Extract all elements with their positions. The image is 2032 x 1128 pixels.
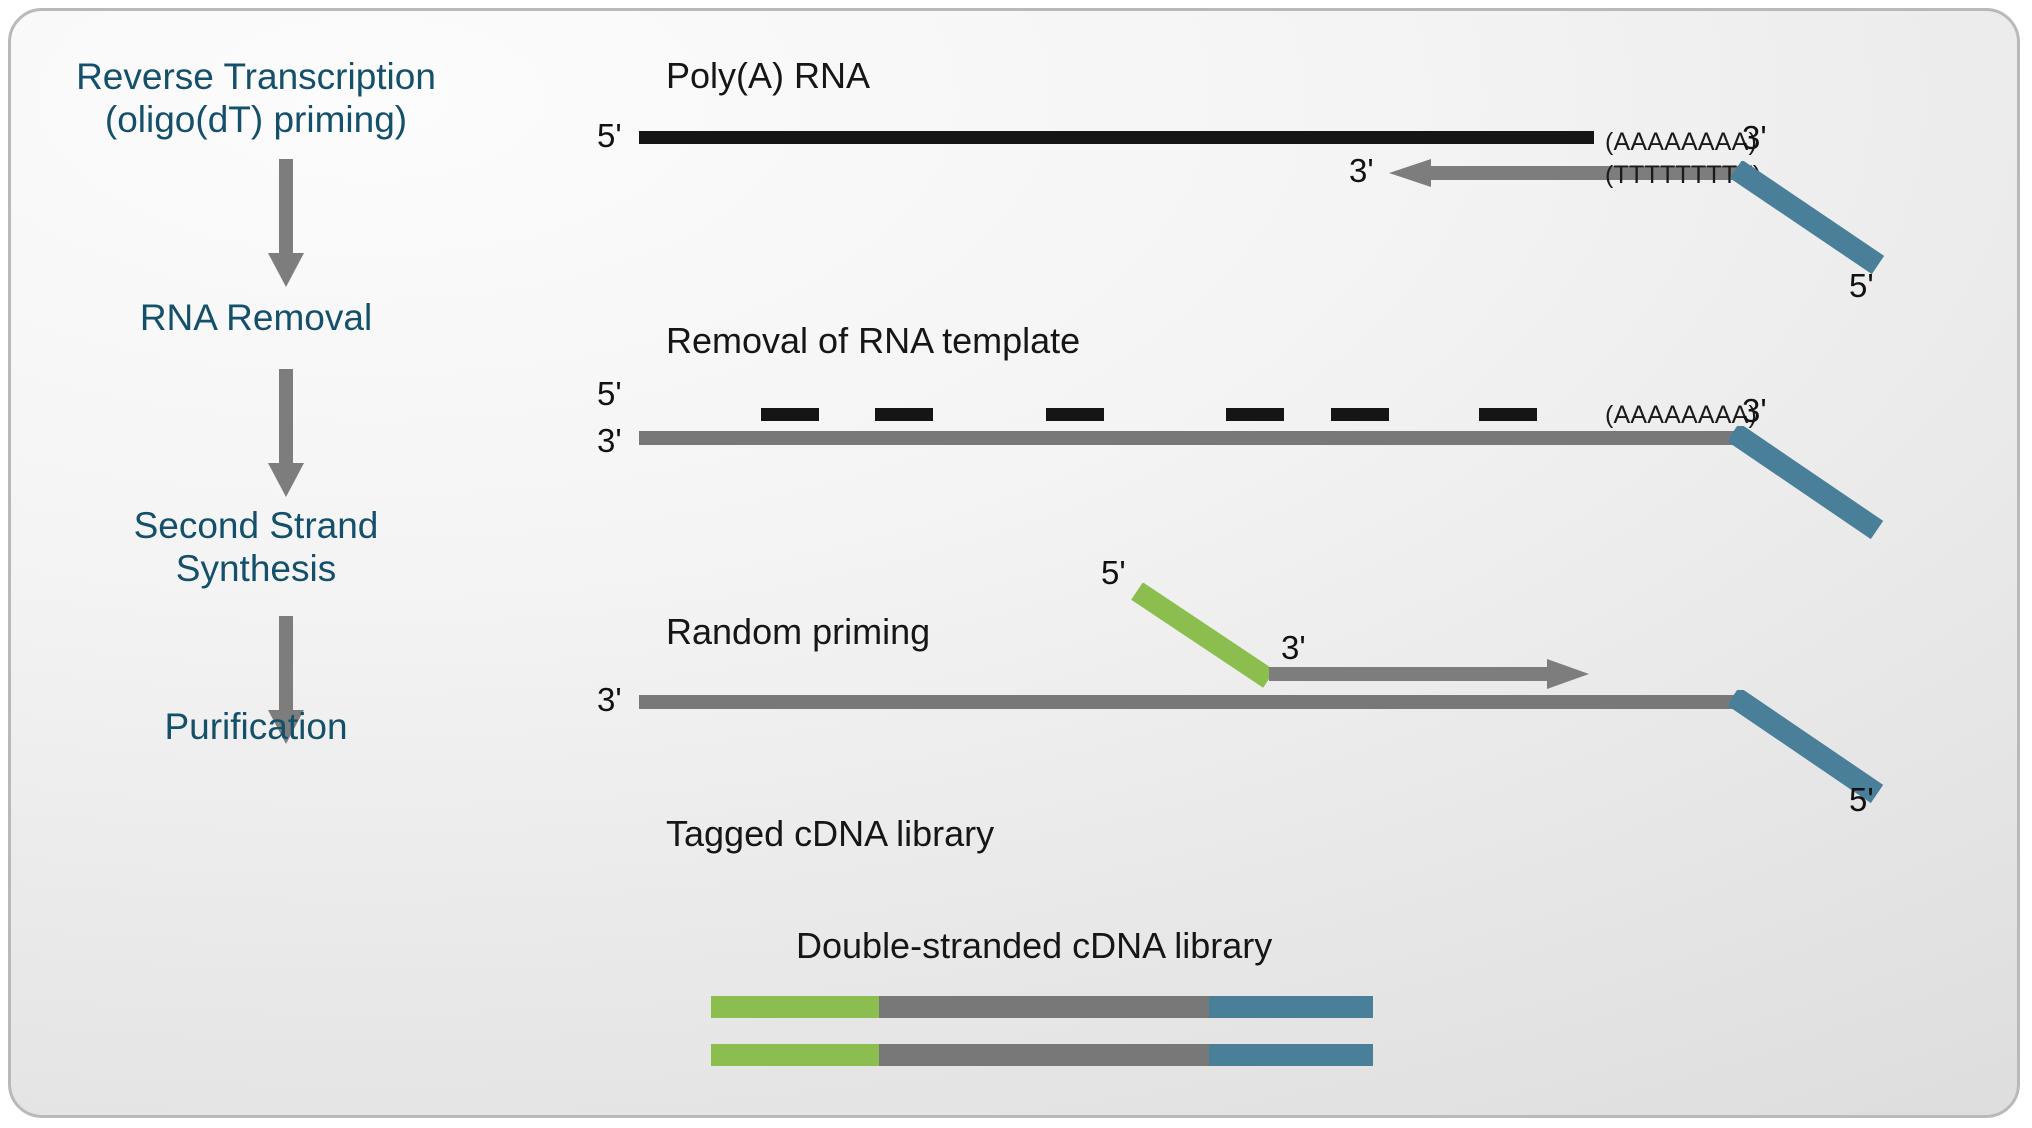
rna-fragment-dash bbox=[875, 408, 933, 421]
rna-fragment-dash bbox=[1331, 408, 1389, 421]
ds-bottom-green-segment bbox=[711, 1044, 879, 1066]
label-poly-a-tail-2: (AAAAAAAA) bbox=[1605, 403, 1757, 428]
first-strand-cdna-1 bbox=[639, 431, 1745, 445]
panel-title-random-priming: Random priming bbox=[666, 614, 930, 650]
label-rna-5prime: 5' bbox=[597, 119, 622, 152]
step-label-second-strand-synthesis: Second Strand Synthesis bbox=[21, 505, 491, 591]
diagram-canvas: Reverse Transcription (oligo(dT) priming… bbox=[0, 0, 2032, 1128]
label-rna-3prime: 3' bbox=[1742, 121, 1767, 154]
step-label-rna-removal: RNA Removal bbox=[21, 297, 491, 340]
ds-top-blue-segment bbox=[1209, 996, 1373, 1018]
panel-title-tagged-cdna-library: Tagged cDNA library bbox=[666, 816, 994, 852]
first-strand-cdna-2 bbox=[639, 695, 1745, 709]
flow-arrow-2 bbox=[266, 369, 306, 499]
panel-title-double-stranded-cdna-library: Double-stranded cDNA library bbox=[796, 928, 1272, 964]
rna-template-strand bbox=[639, 131, 1594, 144]
label-removal-3prime: 3' bbox=[597, 424, 622, 457]
ds-bottom-gray-segment bbox=[879, 1044, 1209, 1066]
label-random-primer-5prime: 5' bbox=[1101, 556, 1126, 589]
step-label-purification: Purification bbox=[21, 706, 491, 749]
ds-bottom-blue-segment bbox=[1209, 1044, 1373, 1066]
label-adapter-5prime-1: 5' bbox=[1849, 269, 1874, 302]
label-poly-a-tail: (AAAAAAAA) bbox=[1605, 130, 1757, 155]
rna-fragment-dash bbox=[1479, 408, 1537, 421]
ds-top-green-segment bbox=[711, 996, 879, 1018]
rna-fragment-dash bbox=[761, 408, 819, 421]
second-strand-arrow bbox=[1269, 659, 1589, 689]
rna-fragment-dash bbox=[1046, 408, 1104, 421]
label-primer-3prime: 3' bbox=[1349, 154, 1374, 187]
label-adapter-5prime-3: 5' bbox=[1849, 783, 1874, 816]
panel-title-rna-removal: Removal of RNA template bbox=[666, 323, 1080, 359]
label-removal-right-3prime: 3' bbox=[1742, 394, 1767, 427]
label-second-strand-3prime: 3' bbox=[597, 683, 622, 716]
flow-arrow-1 bbox=[266, 159, 306, 289]
adapter-tail-3 bbox=[1729, 690, 1929, 810]
panel-title-poly-a-rna: Poly(A) RNA bbox=[666, 58, 870, 94]
ds-top-gray-segment bbox=[879, 996, 1209, 1018]
diagram-frame: Reverse Transcription (oligo(dT) priming… bbox=[8, 8, 2020, 1118]
adapter-tail-1 bbox=[1726, 161, 1926, 281]
adapter-tail-2 bbox=[1729, 426, 1929, 546]
rna-fragment-dash bbox=[1226, 408, 1284, 421]
random-primer-green bbox=[1129, 583, 1289, 693]
label-removal-5prime: 5' bbox=[597, 377, 622, 410]
step-label-reverse-transcription: Reverse Transcription (oligo(dT) priming… bbox=[21, 56, 491, 142]
